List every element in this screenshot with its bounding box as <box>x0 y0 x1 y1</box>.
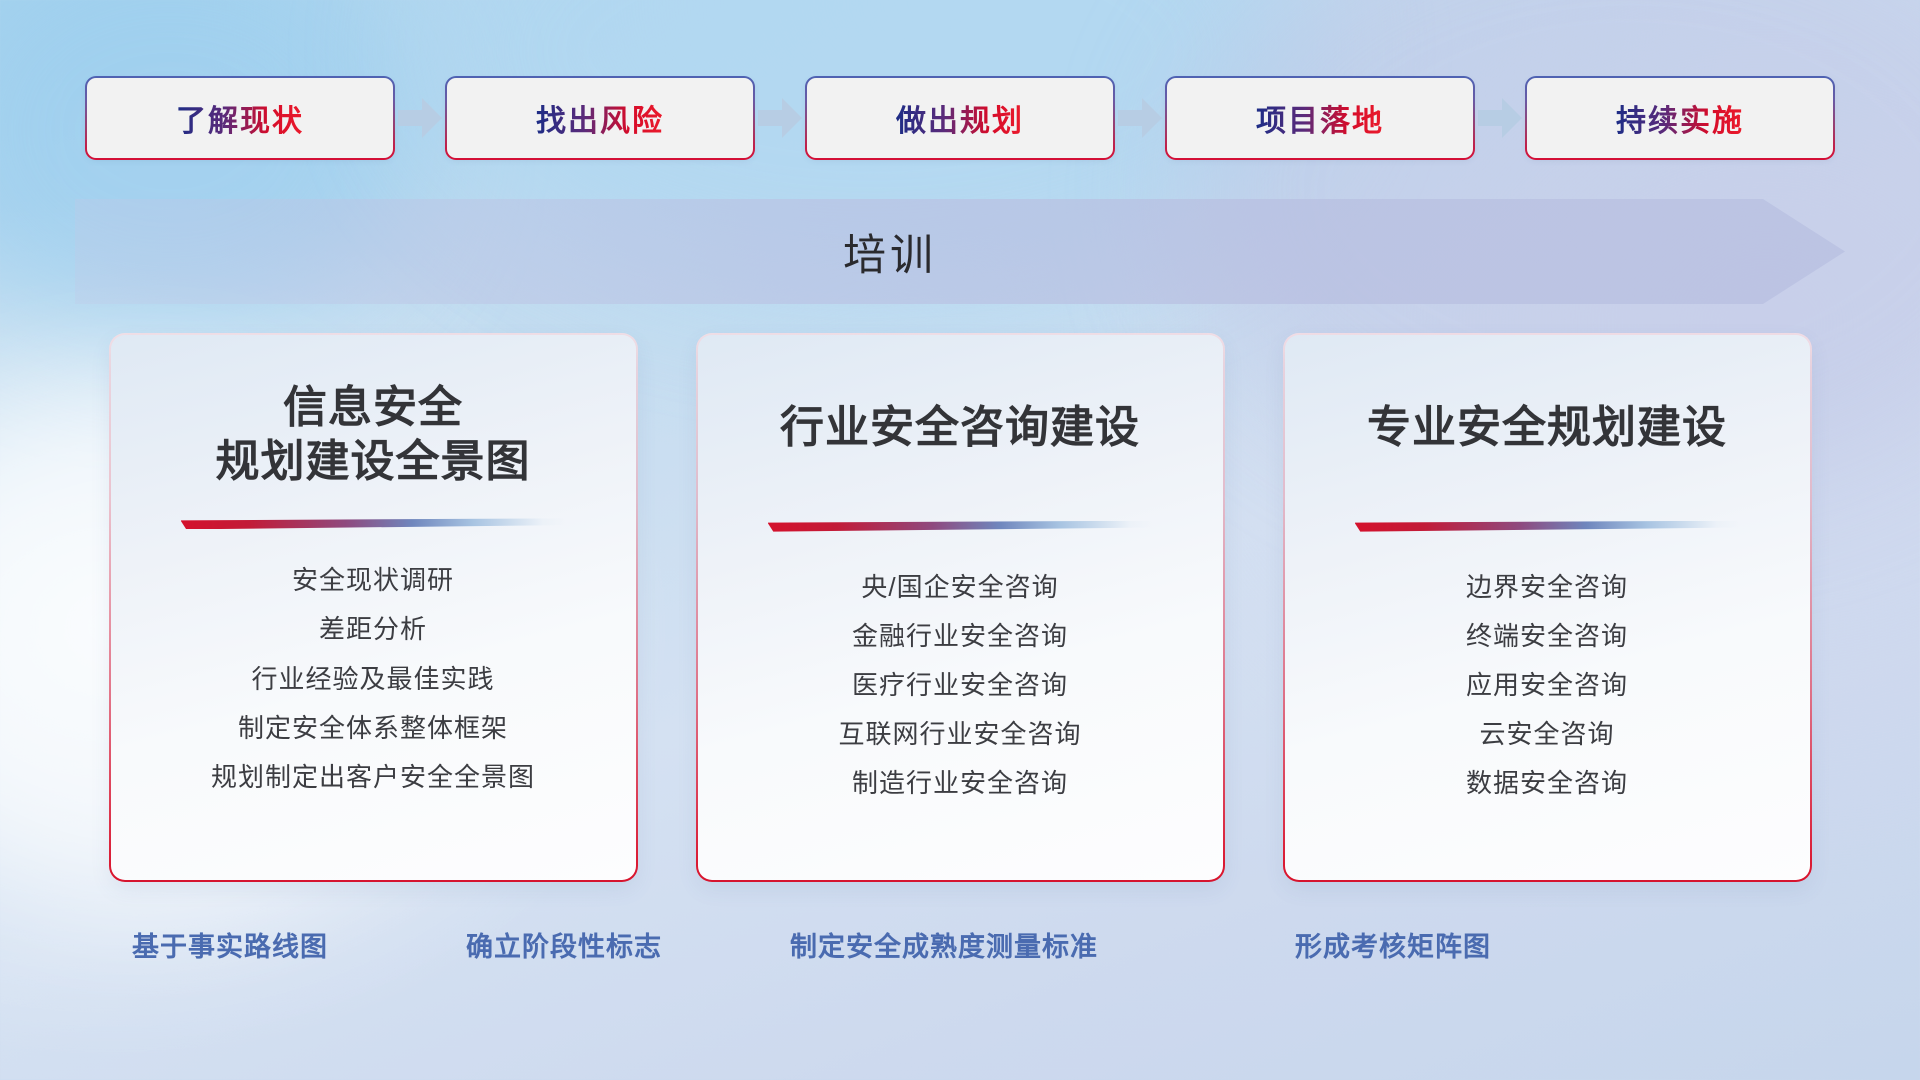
card-divider <box>768 521 1153 532</box>
card-title: 行业安全咨询建设 <box>780 401 1140 455</box>
process-steps-row: 了解现状 找出风险 做出规划 项目落地 持续实施 <box>0 78 1920 158</box>
list-item: 差距分析 <box>319 612 427 647</box>
process-step-label: 了解现状 <box>176 96 304 140</box>
list-item: 制定安全体系整体框架 <box>238 711 508 746</box>
process-step-3[interactable]: 做出规划 <box>807 78 1113 158</box>
list-item: 边界安全咨询 <box>1466 570 1628 605</box>
card-item-list: 央/国企安全咨询 金融行业安全咨询 医疗行业安全咨询 互联网行业安全咨询 制造行… <box>838 570 1081 801</box>
list-item: 云安全咨询 <box>1479 717 1614 752</box>
list-item: 互联网行业安全咨询 <box>838 717 1081 752</box>
card-divider <box>181 518 566 529</box>
card-industry-security-consulting[interactable]: 行业安全咨询建设 央/国企安全咨询 金融行业安全咨询 医疗行业安全咨询 互联网行… <box>698 335 1223 880</box>
card-divider <box>1355 521 1740 532</box>
footnote-milestone: 确立阶段性标志 <box>466 925 662 964</box>
arrow-right-icon <box>1113 78 1167 158</box>
footnote-row: 基于事实路线图 确立阶段性标志 制定安全成熟度测量标准 形成考核矩阵图 <box>0 925 1920 971</box>
training-banner: 培训 <box>75 199 1845 304</box>
banner-title: 培训 <box>75 199 1845 304</box>
process-step-4[interactable]: 项目落地 <box>1167 78 1473 158</box>
list-item: 规划制定出客户安全全景图 <box>211 760 535 795</box>
process-step-label: 做出规划 <box>896 96 1024 140</box>
list-item: 金融行业安全咨询 <box>852 619 1068 654</box>
list-item: 医疗行业安全咨询 <box>852 668 1068 703</box>
list-item: 安全现状调研 <box>292 563 454 598</box>
card-item-list: 边界安全咨询 终端安全咨询 应用安全咨询 云安全咨询 数据安全咨询 <box>1466 570 1628 801</box>
arrow-right-icon <box>1473 78 1527 158</box>
process-step-1[interactable]: 了解现状 <box>87 78 393 158</box>
list-item: 行业经验及最佳实践 <box>251 662 494 697</box>
arrow-right-icon <box>753 78 807 158</box>
list-item: 数据安全咨询 <box>1466 766 1628 801</box>
card-professional-security-planning[interactable]: 专业安全规划建设 边界安全咨询 终端安全咨询 应用安全咨询 云安全咨询 数据安全… <box>1285 335 1810 880</box>
card-title: 专业安全规划建设 <box>1367 401 1727 455</box>
process-step-5[interactable]: 持续实施 <box>1527 78 1833 158</box>
card-information-security-blueprint[interactable]: 信息安全 规划建设全景图 安全现状调研 差距分析 行业经验及最佳实践 制定安全体… <box>111 335 636 880</box>
footnote-matrix: 形成考核矩阵图 <box>1295 925 1491 964</box>
cards-row: 信息安全 规划建设全景图 安全现状调研 差距分析 行业经验及最佳实践 制定安全体… <box>0 335 1920 880</box>
list-item: 央/国企安全咨询 <box>861 570 1058 605</box>
list-item: 终端安全咨询 <box>1466 619 1628 654</box>
list-item: 应用安全咨询 <box>1466 668 1628 703</box>
process-step-label: 项目落地 <box>1256 96 1384 140</box>
card-title: 信息安全 规划建设全景图 <box>216 381 531 488</box>
process-step-label: 找出风险 <box>536 96 664 140</box>
list-item: 制造行业安全咨询 <box>852 766 1068 801</box>
footnote-maturity: 制定安全成熟度测量标准 <box>790 925 1098 964</box>
footnote-roadmap: 基于事实路线图 <box>132 925 328 964</box>
process-step-label: 持续实施 <box>1616 96 1744 140</box>
arrow-right-icon <box>393 78 447 158</box>
card-item-list: 安全现状调研 差距分析 行业经验及最佳实践 制定安全体系整体框架 规划制定出客户… <box>211 563 535 794</box>
process-step-2[interactable]: 找出风险 <box>447 78 753 158</box>
